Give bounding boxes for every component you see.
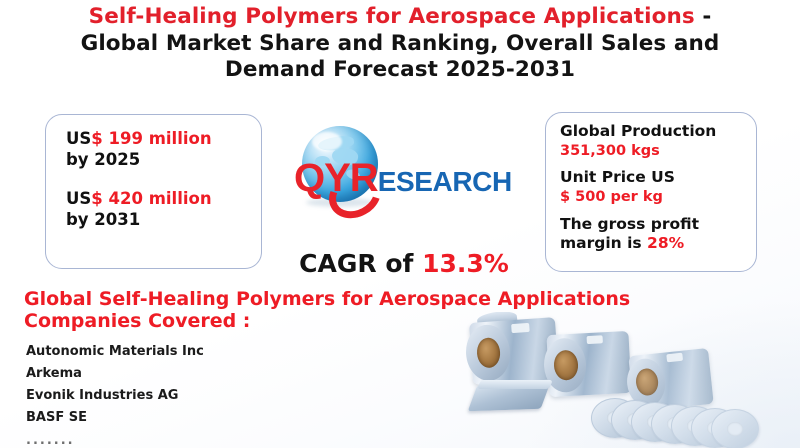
gasket-disc — [711, 409, 759, 448]
gross-margin-line-2: margin is 28% — [560, 234, 756, 254]
market-value-2025-amount: $ 199 million — [91, 129, 211, 148]
title-line-1-dash: - — [695, 4, 712, 29]
list-item: Autonomic Materials Inc — [26, 341, 446, 363]
gross-margin-value: 28% — [647, 234, 684, 252]
production-metrics-content: Global Production 351,300 kgs Unit Price… — [546, 113, 756, 254]
film-roll-label — [587, 335, 603, 344]
market-value-2031-amount: $ 420 million — [91, 189, 211, 208]
market-value-2025-prefix: US — [66, 129, 91, 148]
title-line-2: Global Market Share and Ranking, Overall… — [0, 31, 800, 58]
market-value-box-content: US$ 199 million by 2025 US$ 420 million … — [46, 115, 261, 231]
metrics-spacer-2 — [560, 207, 756, 215]
title-line-1-text: Self-Healing Polymers for Aerospace Appl… — [89, 4, 695, 29]
companies-list-ellipsis: ....... — [26, 429, 446, 448]
cagr-statement: CAGR of 13.3% — [270, 249, 538, 278]
list-item: Arkema — [26, 363, 446, 385]
companies-heading-line-1: Global Self-Healing Polymers for Aerospa… — [24, 288, 764, 310]
global-production-label: Global Production — [560, 122, 756, 142]
title-line-3: Demand Forecast 2025-2031 — [0, 57, 800, 84]
unit-price-value: $ 500 per kg — [560, 188, 756, 207]
logo-wordmark-qyr: QYR — [294, 156, 378, 200]
list-item: Evonik Industries AG — [26, 385, 446, 407]
cagr-value: 13.3% — [422, 249, 509, 278]
market-value-2031-year: by 2031 — [66, 209, 261, 230]
infographic-poster: Self-Healing Polymers for Aerospace Appl… — [0, 0, 800, 448]
cagr-label: CAGR of — [299, 249, 422, 278]
globe-glare — [312, 132, 342, 151]
global-production-value: 351,300 kgs — [560, 142, 756, 161]
companies-list: Autonomic Materials Inc Arkema Evonik In… — [26, 341, 446, 448]
market-value-box: US$ 199 million by 2025 US$ 420 million … — [45, 114, 262, 269]
logo-wordmark-esearch: ESEARCH — [378, 166, 512, 197]
gross-margin-label: The gross profit — [560, 215, 756, 235]
gross-margin-label-2: margin is — [560, 234, 647, 252]
market-value-2031: US$ 420 million — [66, 188, 261, 209]
film-roll — [546, 331, 631, 397]
product-photo — [455, 312, 800, 448]
unit-price-label: Unit Price US — [560, 168, 756, 188]
qyresearch-logo: QYRESEARCH — [288, 126, 520, 210]
market-value-2025-year: by 2025 — [66, 149, 261, 170]
film-roll-label — [511, 323, 530, 333]
stat-spacer — [66, 171, 261, 188]
title-line-1: Self-Healing Polymers for Aerospace Appl… — [0, 4, 800, 31]
film-roll-label — [666, 353, 683, 363]
production-metrics-box: Global Production 351,300 kgs Unit Price… — [545, 112, 757, 272]
list-item: BASF SE — [26, 407, 446, 429]
market-value-2031-prefix: US — [66, 189, 91, 208]
metrics-spacer-1 — [560, 160, 756, 168]
market-value-2025: US$ 199 million — [66, 128, 261, 149]
page-title: Self-Healing Polymers for Aerospace Appl… — [0, 4, 800, 84]
logo-wordmark: QYRESEARCH — [294, 156, 512, 201]
polymer-slab-top — [477, 380, 553, 389]
